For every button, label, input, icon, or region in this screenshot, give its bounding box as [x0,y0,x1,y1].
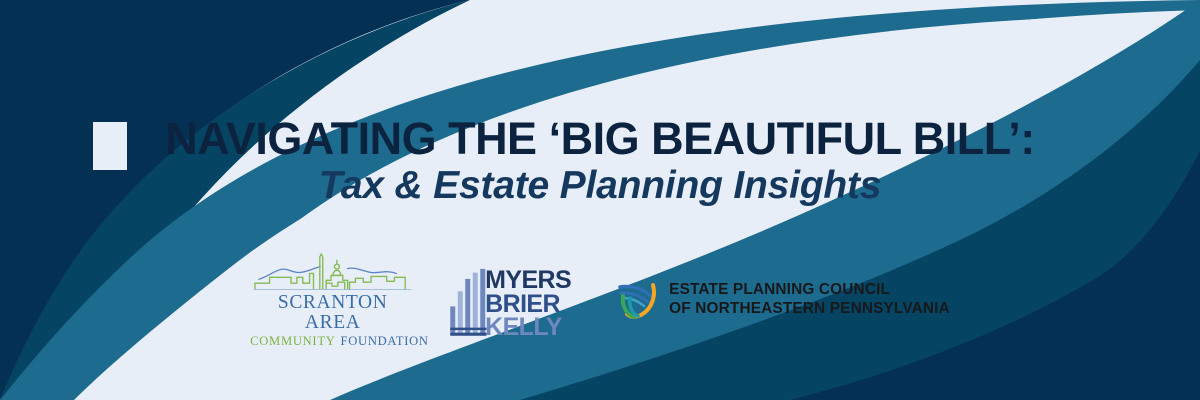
logo-name-scranton: SCRANTON AREA [250,293,415,332]
logo-wordmark-epc: ESTATE PLANNING COUNCIL OF NORTHEASTERN … [669,281,950,319]
logo-myers-brier-kelly: MYERS BRIER KELLY [449,261,584,339]
logo-tagline-word-community: COMMUNITY [250,334,335,348]
logo-tagline-word-foundation: FOUNDATION [341,334,429,348]
page-title: NAVIGATING THE ‘BIG BEAUTIFUL BILL’: [165,116,1034,162]
sponsor-logo-row: SCRANTON AREA COMMUNITYFOUNDATION MYERS … [0,252,1200,348]
city-skyline-icon [250,252,415,292]
title-block: NAVIGATING THE ‘BIG BEAUTIFUL BILL’: Tax… [0,116,1200,207]
logo-wordmark-mbk: MYERS BRIER KELLY [485,269,571,339]
logo-scranton-area-community-foundation: SCRANTON AREA COMMUNITYFOUNDATION [250,252,415,348]
logo-line-kelly: KELLY [485,316,571,339]
swoosh-icon [618,278,658,322]
page-subtitle: Tax & Estate Planning Insights [0,166,1200,207]
logo-line-epc-2: OF NORTHEASTERN PENNSYLVANIA [669,300,950,319]
logo-line-epc-1: ESTATE PLANNING COUNCIL [669,281,950,300]
logo-estate-planning-council: ESTATE PLANNING COUNCIL OF NORTHEASTERN … [618,278,950,322]
event-banner: NAVIGATING THE ‘BIG BEAUTIFUL BILL’: Tax… [0,0,1200,400]
logo-tagline-scranton: COMMUNITYFOUNDATION [250,335,415,348]
column-pillar-icon [449,265,489,339]
logo-line-myers: MYERS [485,269,571,292]
